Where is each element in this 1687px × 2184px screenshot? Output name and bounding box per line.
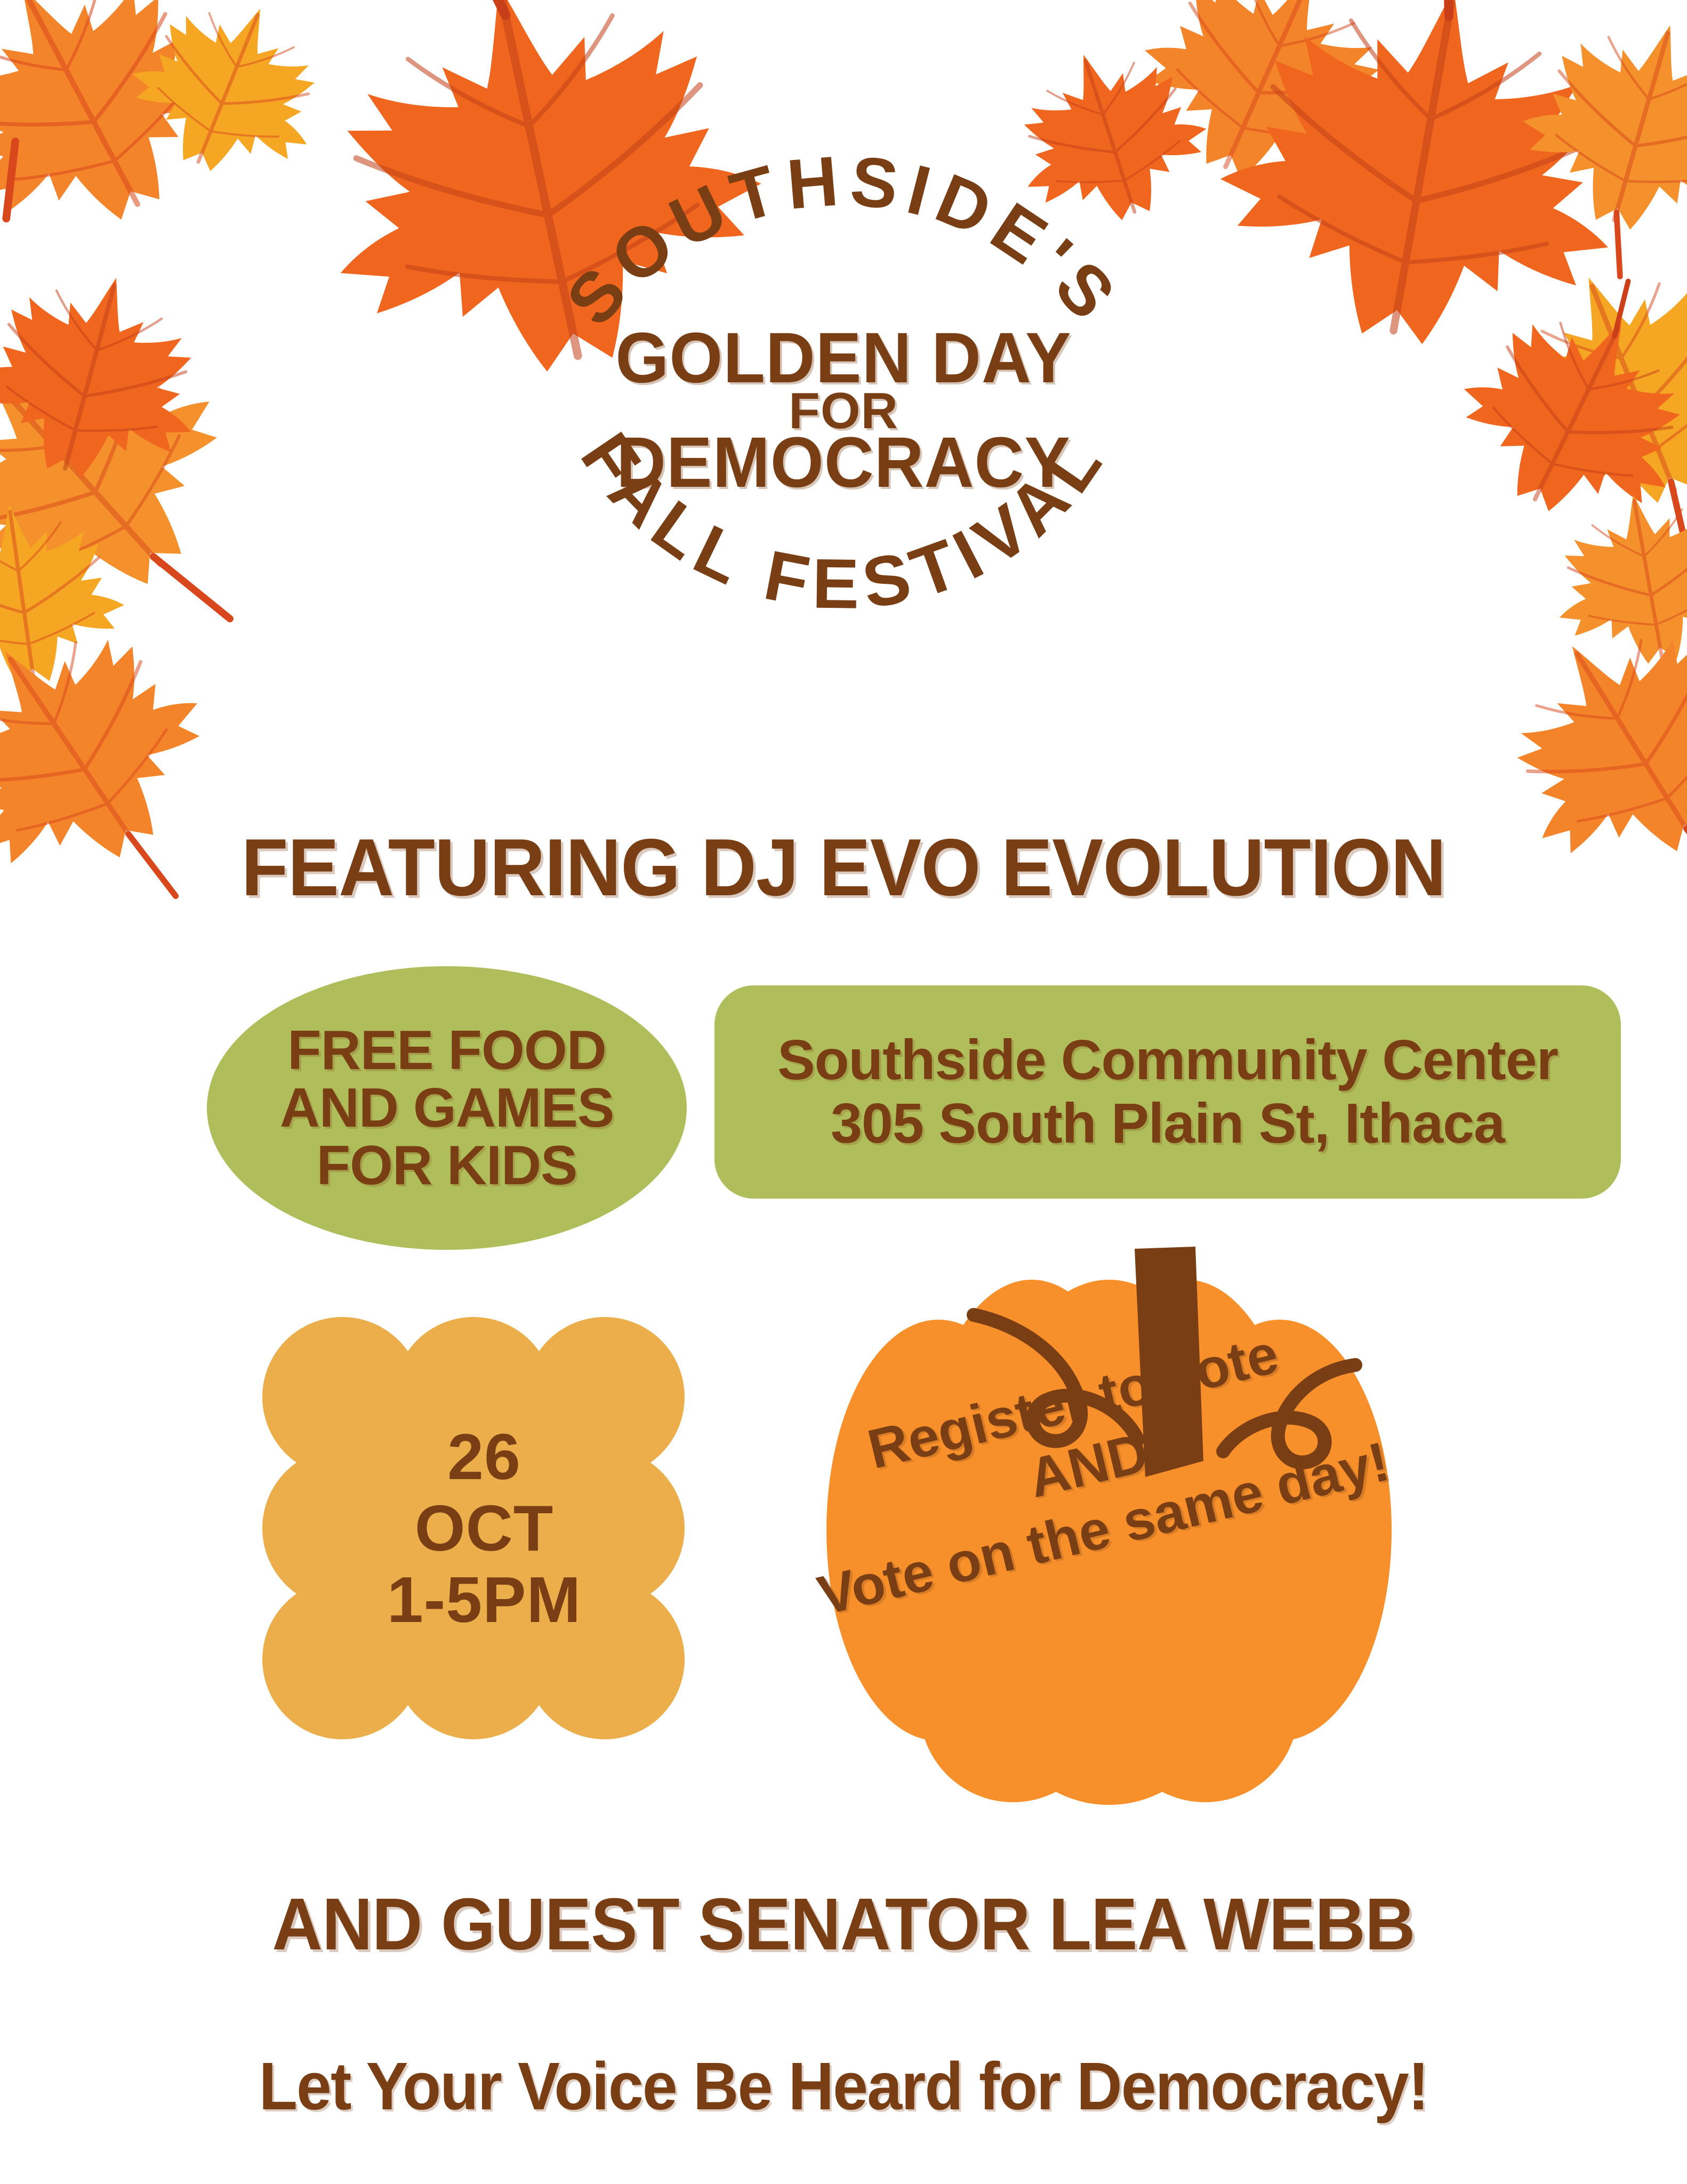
kids-line-2: AND GAMES — [280, 1079, 614, 1137]
maple-leaf-icon — [110, 0, 347, 201]
arch-top-text: SOUTHSIDE'S — [551, 141, 1136, 340]
kids-activities-text: FREE FOOD AND GAMES FOR KIDS — [280, 1022, 614, 1194]
emblem-line-democracy: DEMOCRACY — [434, 430, 1253, 495]
venue-address-text: Southside Community Center 305 South Pla… — [777, 1029, 1558, 1155]
kids-activities-badge: FREE FOOD AND GAMES FOR KIDS — [207, 966, 687, 1250]
date-time-text: 26 OCT 1-5PM — [262, 1317, 685, 1739]
date-time-badge: 26 OCT 1-5PM — [262, 1317, 685, 1739]
festival-emblem: SOUTHSIDE'S FALL FESTIVAL GOLDEN DAY FOR… — [417, 11, 1270, 794]
venue-address-badge: Southside Community Center 305 South Pla… — [714, 985, 1621, 1199]
maple-leaf-icon — [1489, 0, 1687, 302]
emblem-center-block: GOLDEN DAY FOR DEMOCRACY — [417, 325, 1270, 495]
emblem-line-golden-day: GOLDEN DAY — [434, 325, 1253, 391]
poster-canvas: SOUTHSIDE'S FALL FESTIVAL GOLDEN DAY FOR… — [0, 0, 1687, 2184]
kids-line-3: FOR KIDS — [280, 1137, 614, 1194]
poster-tagline: Let Your Voice Be Heard for Democracy! — [51, 2047, 1636, 2125]
guest-speaker-line: AND GUEST SENATOR LEA WEBB — [42, 1882, 1645, 1967]
arch-top-textpath: SOUTHSIDE'S — [551, 141, 1136, 340]
maple-leaf-icon — [1468, 229, 1687, 611]
maple-leaf-icon — [0, 0, 263, 275]
maple-leaf-icon — [1541, 478, 1687, 678]
maple-leaf-icon — [0, 491, 133, 697]
maple-leaf-icon — [0, 249, 224, 502]
date-day: 26 — [387, 1421, 581, 1492]
featuring-headline: FEATURING DJ EVO EVOLUTION — [42, 821, 1645, 914]
maple-leaf-icon — [1432, 237, 1687, 552]
venue-name: Southside Community Center — [777, 1029, 1558, 1092]
kids-line-1: FREE FOOD — [280, 1022, 614, 1079]
date-month: OCT — [387, 1492, 581, 1564]
maple-leaf-icon — [0, 277, 326, 726]
date-time: 1-5PM — [387, 1564, 581, 1635]
venue-street: 305 South Plain St, Ithaca — [777, 1092, 1558, 1155]
